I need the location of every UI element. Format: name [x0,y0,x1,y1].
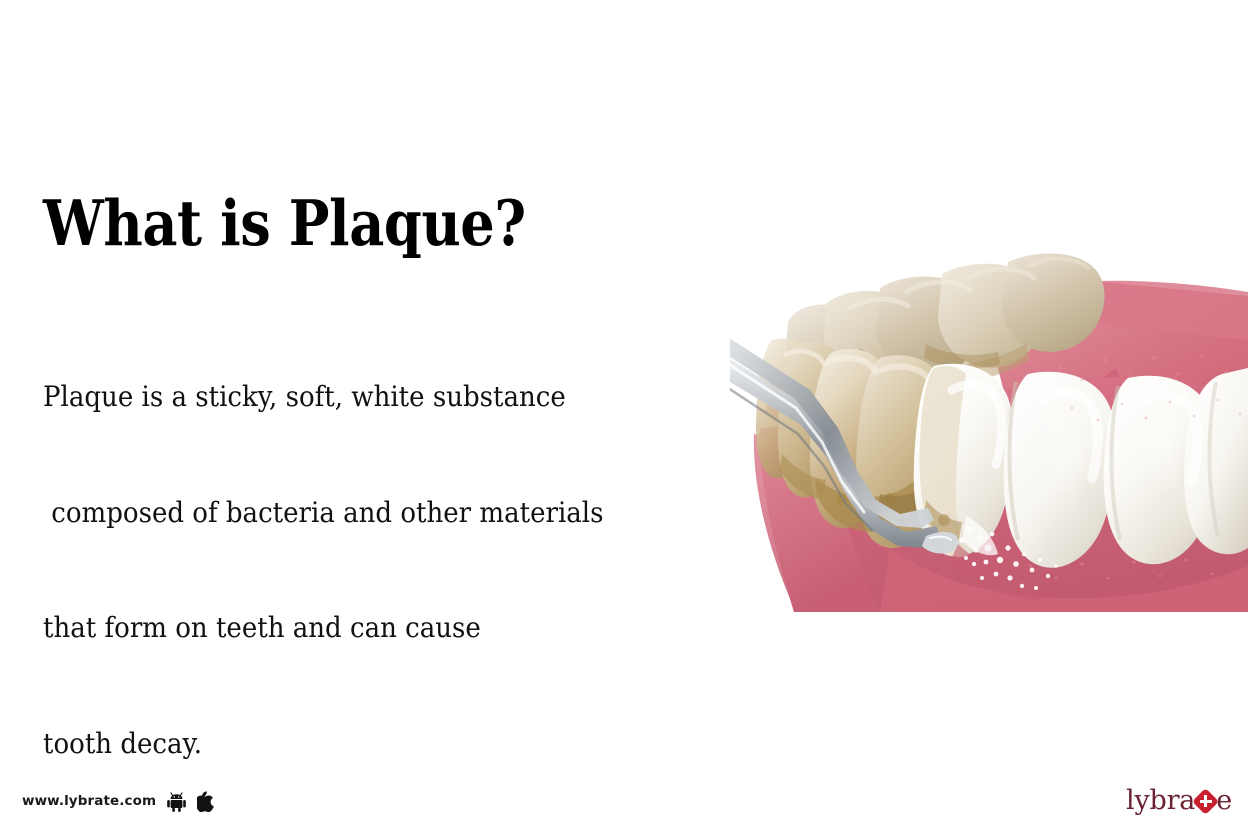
dental-plaque-illustration [730,248,1248,612]
site-url[interactable]: www.lybrate.com [22,793,156,809]
body-copy: Plaque is a sticky, soft, white substanc… [43,301,657,835]
body-line: composed of bacteria and other materials [43,494,657,533]
plus-diamond-icon [1194,790,1217,813]
brand-text-after: e [1216,786,1232,816]
body-line: Plaque is a sticky, soft, white substanc… [43,378,657,417]
text-content: What is Plaque? Plaque is a sticky, soft… [43,185,703,835]
android-icon[interactable] [167,791,186,812]
brand-text-before: lybra [1126,786,1195,816]
body-line: tooth decay. [43,725,657,764]
apple-icon[interactable] [197,791,214,812]
lybrate-logo[interactable]: lybra e [1126,786,1232,816]
footer-left: www.lybrate.com [22,789,214,813]
poster-canvas: What is Plaque? Plaque is a sticky, soft… [0,0,1248,835]
body-line: that form on teeth and can cause [43,609,657,648]
page-title: What is Plaque? [43,185,611,261]
